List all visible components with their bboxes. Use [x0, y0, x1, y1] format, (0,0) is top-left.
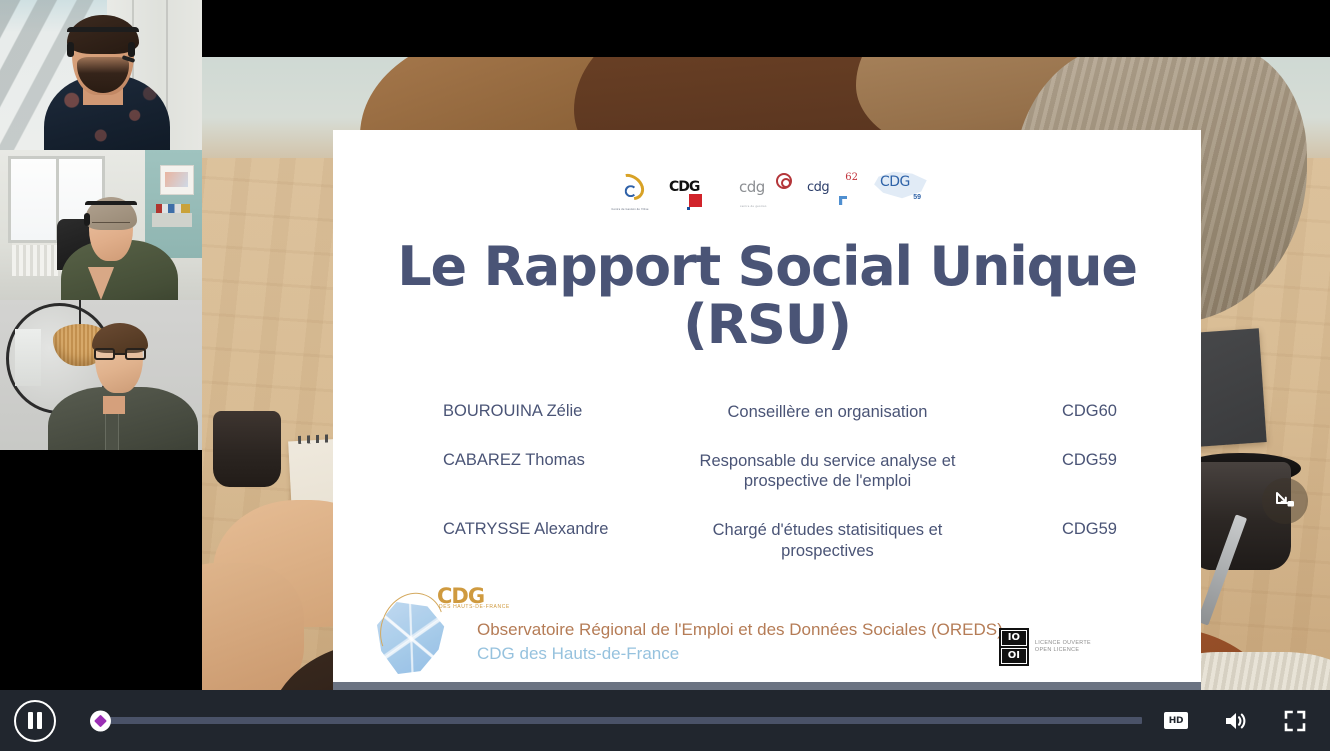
footer-cdg-subtitle: DES HAUTS-DE-FRANCE [439, 604, 510, 610]
cdg-target-subtitle: centre de gestion [740, 204, 767, 208]
progress-handle[interactable] [90, 710, 111, 731]
webcam-3-glasses-bridge [115, 353, 126, 355]
webcam-3-lens-right [125, 348, 146, 360]
progress-track[interactable] [100, 717, 1142, 724]
open-licence-badge: IO OI LICENCE OUVERTE OPEN LICENCE [999, 628, 1091, 666]
webcam-3-mirror-reflection [15, 329, 41, 386]
cdg62-logo: cdg 62 [807, 170, 859, 204]
volume-button[interactable] [1222, 708, 1248, 734]
webcam-tile-2[interactable] [0, 150, 202, 300]
speaker-name: CATRYSSE Alexandre [443, 520, 658, 539]
speaker-name: BOUROUINA Zélie [443, 402, 658, 421]
speaker-role: Chargé d'études statisitiques et prospec… [668, 520, 987, 561]
shared-screen-stage: Centre de Gestion de l'Oise CDG cdg cent… [202, 0, 1330, 690]
cdg-logo-caption: Centre de Gestion de l'Oise [605, 208, 655, 211]
quality-hd-button[interactable]: HD [1164, 712, 1188, 729]
pause-bar-right [37, 712, 42, 729]
cdg62-number: 62 [845, 172, 858, 183]
webcam-1-headset-band [67, 27, 140, 32]
webcam-tile-3[interactable] [0, 300, 202, 450]
dark-mug [213, 411, 281, 487]
cdg-red-wordmark: CDG [669, 180, 699, 194]
minimize-to-pip-button[interactable] [1262, 478, 1308, 524]
cdg62-flag-icon [839, 196, 847, 205]
webcam-3-neck [103, 396, 125, 414]
cdg59-wordmark: CDG [880, 175, 910, 189]
licence-glyph-icon: IO OI [999, 628, 1029, 666]
webcam-3-glasses [94, 348, 147, 360]
webcam-3-lamp-cord [79, 300, 81, 326]
partner-logo-row: Centre de Gestion de l'Oise CDG cdg cent… [333, 164, 1201, 204]
speaker-role: Responsable du service analyse et prospe… [668, 451, 987, 492]
webcam-2-headset-band [85, 201, 138, 205]
footer-line-1: Observatoire Régional de l'Emploi et des… [477, 620, 1003, 640]
speaker-role: Conseillère en organisation [668, 402, 987, 423]
pause-button[interactable] [14, 700, 56, 742]
red-square-icon [689, 194, 702, 207]
slide-footer: CDG DES HAUTS-DE-FRANCE Observatoire Rég… [361, 580, 1183, 678]
oreds-logo: CDG DES HAUTS-DE-FRANCE [375, 584, 459, 674]
table-row: CATRYSSE Alexandre Chargé d'études stati… [443, 520, 1117, 561]
webcam-2-glasses [92, 222, 130, 228]
gold-swoosh-icon [611, 169, 649, 206]
licence-glyph-bottom: OI [1001, 648, 1027, 664]
webcam-strip [0, 0, 202, 690]
licence-glyph-top: IO [1001, 630, 1027, 646]
video-player-app: Centre de Gestion de l'Oise CDG cdg cent… [0, 0, 1330, 751]
cdg-target-logo: cdg centre de gestion [739, 170, 793, 204]
target-rings-icon [776, 173, 792, 189]
speaker-icon [1223, 710, 1247, 732]
speaker-org: CDG59 [997, 520, 1117, 539]
webcam-1-headset-earcup-right [128, 42, 135, 57]
cdg-red-square-logo: CDG [669, 170, 725, 204]
fullscreen-icon [1284, 710, 1306, 732]
progress-bar[interactable] [90, 700, 1142, 742]
pip-arrow-icon [1273, 489, 1297, 513]
webcam-empty-area [0, 450, 202, 690]
table-row: CABAREZ Thomas Responsable du service an… [443, 451, 1117, 492]
player-control-bar: HD [0, 690, 1330, 751]
webcam-1-headset-earcup-left [67, 42, 74, 57]
pause-bar-left [28, 712, 33, 729]
speakers-table: BOUROUINA Zélie Conseillère en organisat… [443, 402, 1117, 589]
licence-text: LICENCE OUVERTE OPEN LICENCE [1035, 640, 1091, 654]
blue-spiral-icon [625, 185, 637, 197]
letterbox-top-bar [202, 0, 1330, 57]
webcam-tile-1[interactable] [0, 0, 202, 150]
cdg59-logo: CDG 59 [873, 170, 929, 204]
licence-text-line-2: OPEN LICENCE [1035, 647, 1091, 654]
licence-text-line-1: LICENCE OUVERTE [1035, 640, 1091, 647]
slide-title: Le Rapport Social Unique (RSU) [393, 238, 1141, 354]
player-right-controls: HD [1164, 708, 1308, 734]
webcam-2-poster [160, 165, 194, 195]
speaker-org: CDG59 [997, 451, 1117, 470]
fullscreen-button[interactable] [1282, 708, 1308, 734]
speaker-org: CDG60 [997, 402, 1117, 421]
presentation-slide[interactable]: Centre de Gestion de l'Oise CDG cdg cent… [333, 130, 1201, 682]
blue-dot-icon [687, 207, 690, 210]
footer-line-2: CDG des Hauts-de-France [477, 644, 679, 664]
table-row: BOUROUINA Zélie Conseillère en organisat… [443, 402, 1117, 423]
speaker-name: CABAREZ Thomas [443, 451, 658, 470]
webcam-3-lens-left [94, 348, 115, 360]
cdg-centre-de-gestion-logo: Centre de Gestion de l'Oise [605, 170, 655, 204]
cdg62-wordmark: cdg [807, 181, 829, 194]
left-forearm [202, 563, 304, 690]
cdg-target-wordmark: cdg [739, 180, 765, 195]
cdg59-number: 59 [913, 194, 921, 201]
webcam-2-headset-earcup [84, 213, 90, 226]
webcam-2-shelf [152, 213, 192, 227]
